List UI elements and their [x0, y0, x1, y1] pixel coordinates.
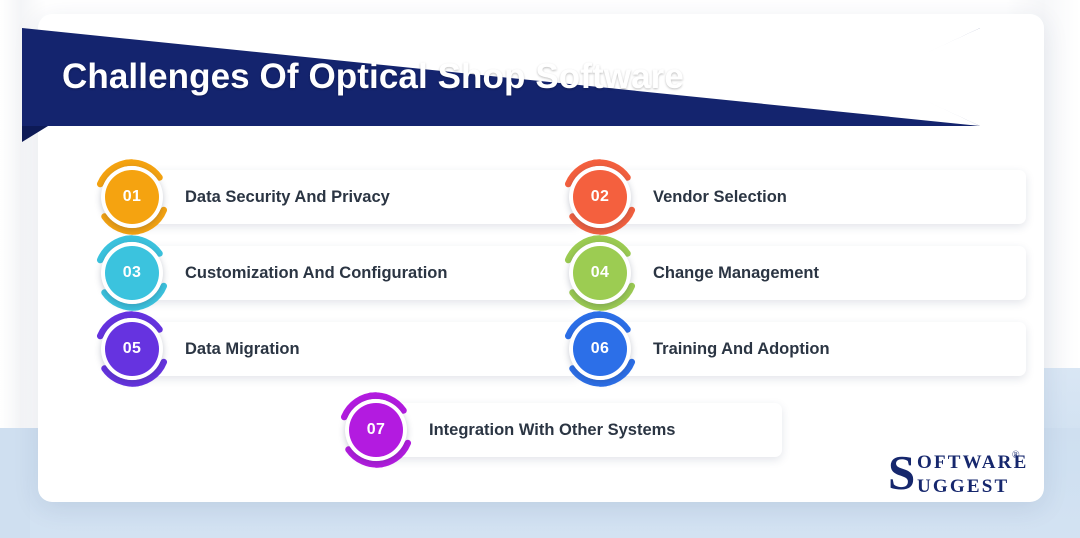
list-item-label: Data Security And Privacy	[185, 170, 390, 224]
list-item-label: Integration With Other Systems	[429, 403, 675, 457]
list-item-badge: 05	[94, 311, 170, 387]
list-item-badge: 01	[94, 159, 170, 235]
list-item[interactable]: 07Integration With Other Systems	[338, 403, 782, 457]
badge-number: 03	[123, 265, 141, 281]
list-item-badge: 04	[562, 235, 638, 311]
list-item[interactable]: 03Customization And Configuration	[94, 246, 580, 300]
badge-disc: 04	[573, 246, 627, 300]
badge-number: 01	[123, 189, 141, 205]
badge-number: 06	[591, 341, 609, 357]
badge-number: 04	[591, 265, 609, 281]
list-item[interactable]: 02Vendor Selection	[562, 170, 1026, 224]
list-item-badge: 07	[338, 392, 414, 468]
badge-disc: 05	[105, 322, 159, 376]
list-item-badge: 03	[94, 235, 170, 311]
list-item[interactable]: 01Data Security And Privacy	[94, 170, 580, 224]
logo-initial: S	[888, 448, 915, 497]
brand-logo: S OFTWARE ® UGGEST	[888, 450, 1034, 500]
list-item-label: Data Migration	[185, 322, 300, 376]
badge-disc: 07	[349, 403, 403, 457]
badge-number: 05	[123, 341, 141, 357]
list-item-label: Change Management	[653, 246, 819, 300]
badge-number: 07	[367, 422, 385, 438]
list-item[interactable]: 04Change Management	[562, 246, 1026, 300]
list-item-badge: 02	[562, 159, 638, 235]
registered-trademark-icon: ®	[1012, 451, 1020, 461]
list-item-label: Training And Adoption	[653, 322, 830, 376]
badge-disc: 02	[573, 170, 627, 224]
logo-line-two: UGGEST	[917, 477, 1009, 496]
list-item-label: Vendor Selection	[653, 170, 787, 224]
infographic-canvas: Challenges Of Optical Shop Software 01Da…	[0, 0, 1080, 538]
list-item-badge: 06	[562, 311, 638, 387]
list-item[interactable]: 06Training And Adoption	[562, 322, 1026, 376]
badge-number: 02	[591, 189, 609, 205]
list-item[interactable]: 05Data Migration	[94, 322, 580, 376]
badge-disc: 03	[105, 246, 159, 300]
badge-disc: 01	[105, 170, 159, 224]
badge-disc: 06	[573, 322, 627, 376]
list-item-label: Customization And Configuration	[185, 246, 447, 300]
